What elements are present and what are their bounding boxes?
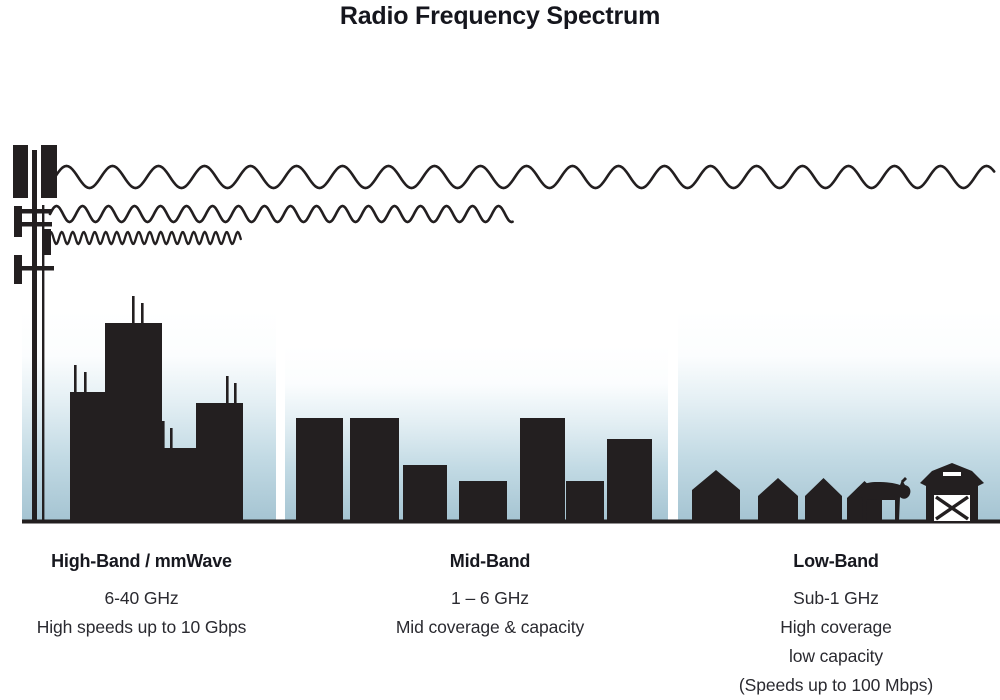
antenna-spire-high-2-1 [170, 428, 173, 448]
building-mid-0 [296, 418, 343, 521]
antenna-spire-high-1-1 [141, 303, 144, 323]
radio-waves [48, 166, 994, 244]
band-label-row: High-Band / mmWave 6-40 GHz High speeds … [0, 540, 1000, 700]
antenna-spire-high-1-0 [132, 296, 135, 323]
tower-crossbar-bottom [22, 266, 54, 271]
antenna-spire-high-3-1 [234, 383, 237, 403]
building-mid-2 [403, 465, 447, 521]
building-high-0 [70, 392, 109, 521]
band-desc-mid: 1 – 6 GHz Mid coverage & capacity [325, 584, 655, 642]
tower-antenna-panel-left [13, 145, 28, 198]
band-detail-low-0: High coverage [672, 613, 1000, 642]
medium-wavelength-wave [50, 206, 513, 222]
band-detail-low-1: low capacity [672, 642, 1000, 671]
band-title-mid: Mid-Band [325, 550, 655, 572]
building-mid-4 [520, 418, 565, 521]
band-desc-high: 6-40 GHz High speeds up to 10 Gbps [0, 584, 283, 642]
building-mid-3 [459, 481, 507, 521]
band-detail-low-2: (Speeds up to 100 Mbps) [672, 671, 1000, 700]
band-detail-mid-0: Mid coverage & capacity [325, 613, 655, 642]
tower-antenna-panel-low [14, 255, 22, 284]
short-wavelength-wave [48, 232, 241, 244]
band-desc-low: Sub-1 GHz High coverage low capacity (Sp… [672, 584, 1000, 700]
band-frequency-mid: 1 – 6 GHz [325, 584, 655, 613]
building-high-3 [196, 403, 243, 521]
band-frequency-high: 6-40 GHz [0, 584, 283, 613]
band-frequency-low: Sub-1 GHz [672, 584, 1000, 613]
tower-antenna-panel-mid [14, 206, 22, 237]
building-high-2 [157, 448, 199, 521]
tower-crossbar-upper [22, 209, 52, 214]
band-title-low: Low-Band [672, 550, 1000, 572]
infographic-root: Radio Frequency Spectrum [0, 0, 1000, 700]
building-mid-5 [566, 481, 604, 521]
tower-crossbar-lower [22, 222, 52, 227]
antenna-spire-high-0-1 [84, 372, 87, 392]
tower-antenna-panel-right [41, 145, 57, 198]
band-block-low: Low-Band Sub-1 GHz High coverage low cap… [672, 540, 1000, 700]
antenna-spire-high-3-0 [226, 376, 229, 403]
spectrum-scene [0, 0, 1000, 540]
band-detail-high-0: High speeds up to 10 Gbps [0, 613, 283, 642]
antenna-spire-high-2-0 [162, 421, 165, 448]
building-mid-1 [350, 418, 399, 521]
antenna-spire-high-0-0 [74, 365, 77, 392]
band-block-high: High-Band / mmWave 6-40 GHz High speeds … [0, 540, 283, 642]
long-wavelength-wave [55, 166, 994, 188]
building-high-1 [105, 323, 162, 521]
barn-hayloft-window [943, 472, 961, 476]
band-title-high: High-Band / mmWave [0, 550, 283, 572]
band-block-mid: Mid-Band 1 – 6 GHz Mid coverage & capaci… [325, 540, 655, 642]
tower-mast [32, 150, 37, 522]
building-mid-6 [607, 439, 652, 521]
